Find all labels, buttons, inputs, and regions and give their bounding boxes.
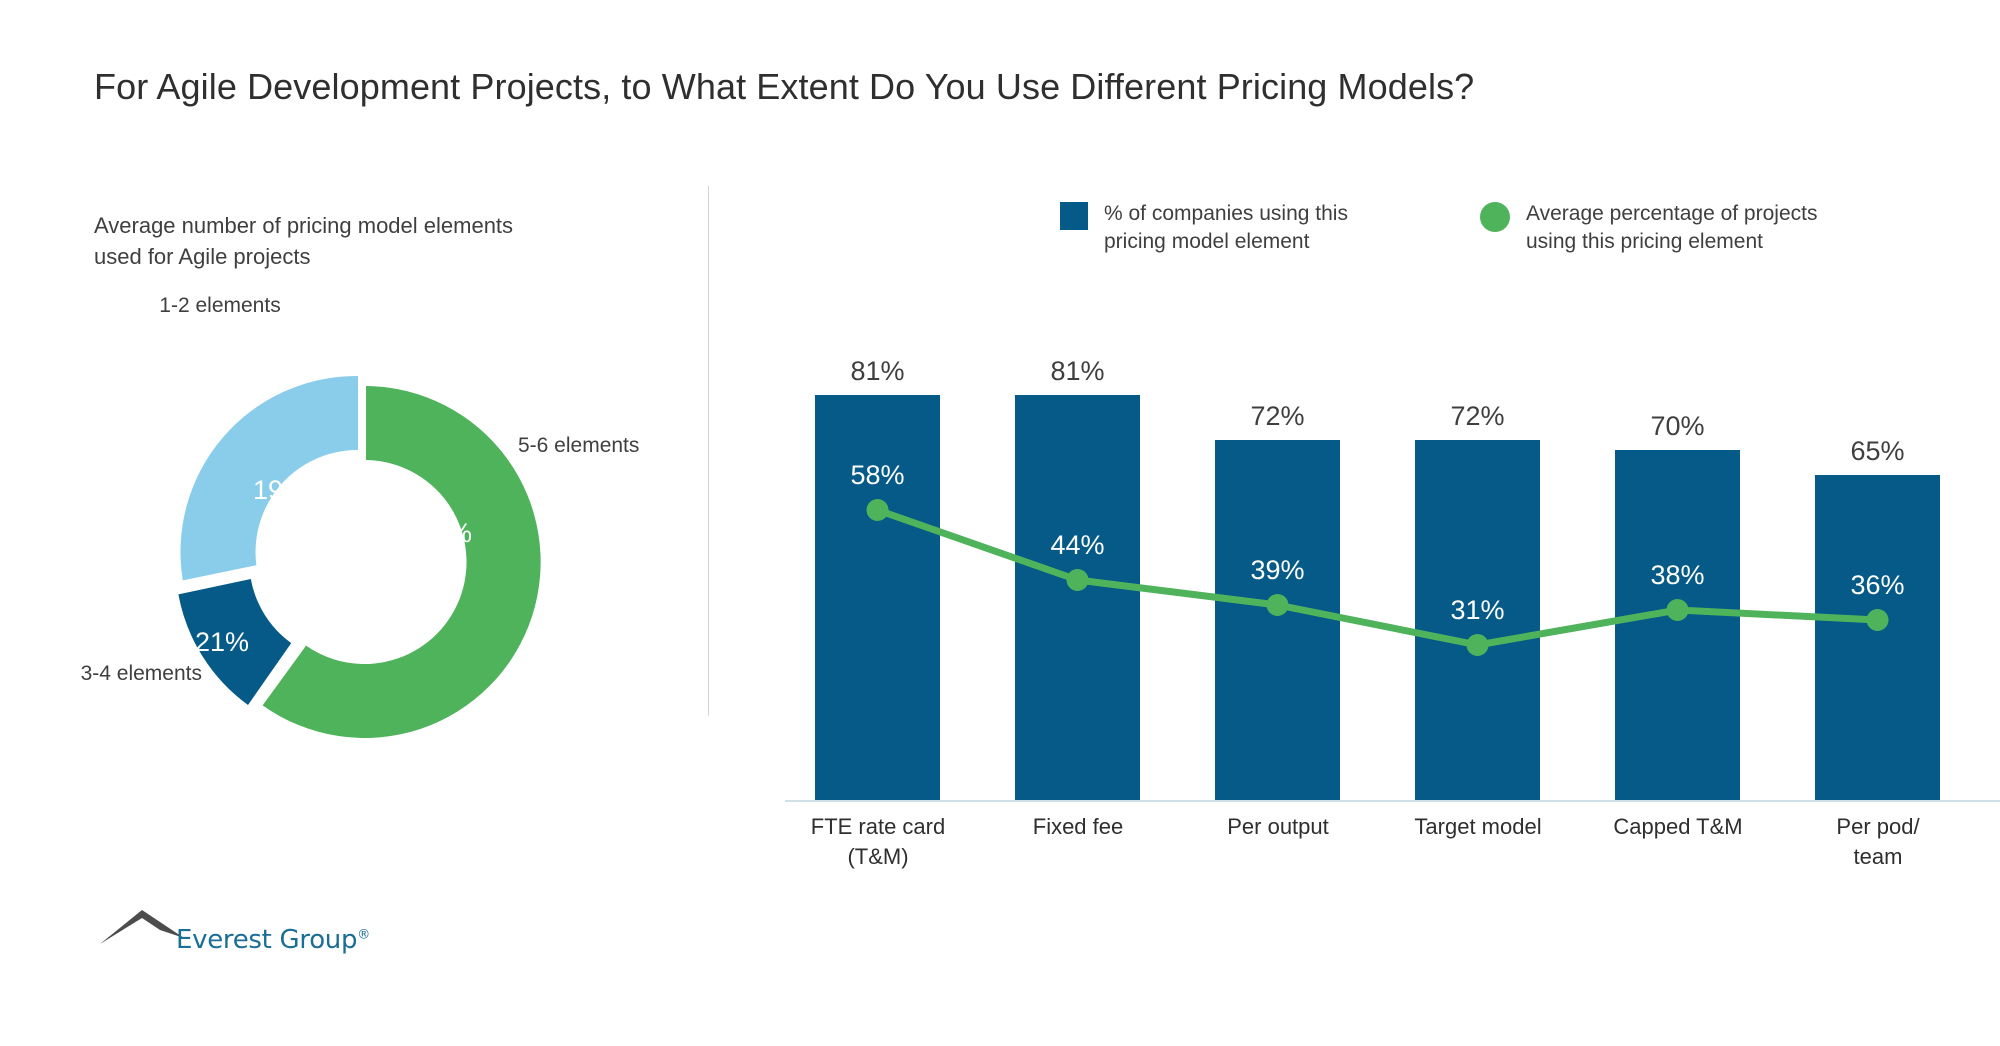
trend-point-capped-tm[interactable] — [1667, 599, 1689, 621]
donut-subtitle: Average number of pricing model elements… — [94, 210, 514, 272]
x-label-fixed-fee: Fixed fee — [1003, 812, 1153, 842]
trend-point-fixed-fee[interactable] — [1067, 569, 1089, 591]
x-label-per-output: Per output — [1203, 812, 1353, 842]
page-title: For Agile Development Projects, to What … — [94, 66, 1474, 108]
logo-wordmark: Everest Group — [176, 925, 357, 955]
legend-label-projects: Average percentage of projects using thi… — [1526, 200, 1817, 256]
legend-item-companies[interactable]: % of companies using this pricing model … — [1060, 200, 1348, 256]
line-value-fixed-fee: 44% — [1015, 530, 1140, 561]
x-axis-line — [785, 800, 2000, 802]
donut-svg — [150, 350, 570, 770]
legend-circle-icon — [1480, 202, 1510, 232]
plot-area: 81% 81% 72% 72% 70% 65% 58% 44% 39% 31% … — [815, 300, 1975, 800]
everest-group-logo: Everest Group® — [98, 908, 288, 963]
legend-square-icon — [1060, 202, 1088, 230]
line-value-fte-rate-card: 58% — [815, 460, 940, 491]
x-label-capped-tm: Capped T&M — [1603, 812, 1753, 842]
line-value-per-pod-team: 36% — [1815, 570, 1940, 601]
line-value-per-output: 39% — [1215, 555, 1340, 586]
donut-label-5-6-elements: 5-6 elements — [518, 432, 658, 459]
bar-line-chart-panel: % of companies using this pricing model … — [710, 150, 2000, 930]
donut-chart: 60% 21% 19% 5-6 elements 3-4 elements 1-… — [150, 350, 570, 770]
trend-line — [815, 300, 1975, 800]
donut-panel: Average number of pricing model elements… — [0, 150, 710, 930]
chart-legend: % of companies using this pricing model … — [1060, 200, 1960, 270]
legend-item-projects[interactable]: Average percentage of projects using thi… — [1480, 200, 1817, 256]
x-label-target-model: Target model — [1403, 812, 1553, 842]
panel-divider — [708, 186, 709, 716]
line-value-target-model: 31% — [1415, 595, 1540, 626]
donut-label-1-2-elements: 1-2 elements — [140, 292, 300, 319]
donut-label-3-4-elements: 3-4 elements — [52, 660, 202, 687]
x-label-fte-rate-card: FTE rate card (T&M) — [803, 812, 953, 872]
logo-text: Everest Group® — [176, 925, 370, 955]
x-label-per-pod-team: Per pod/ team — [1803, 812, 1953, 872]
donut-slice-1-2-elements — [180, 376, 358, 580]
registered-trademark-icon: ® — [357, 927, 370, 942]
trend-point-fte-rate-card[interactable] — [867, 499, 889, 521]
line-value-capped-tm: 38% — [1615, 560, 1740, 591]
legend-label-companies: % of companies using this pricing model … — [1104, 200, 1348, 256]
trend-point-target-model[interactable] — [1467, 634, 1489, 656]
trend-point-per-pod-team[interactable] — [1867, 609, 1889, 631]
trend-point-per-output[interactable] — [1267, 594, 1289, 616]
